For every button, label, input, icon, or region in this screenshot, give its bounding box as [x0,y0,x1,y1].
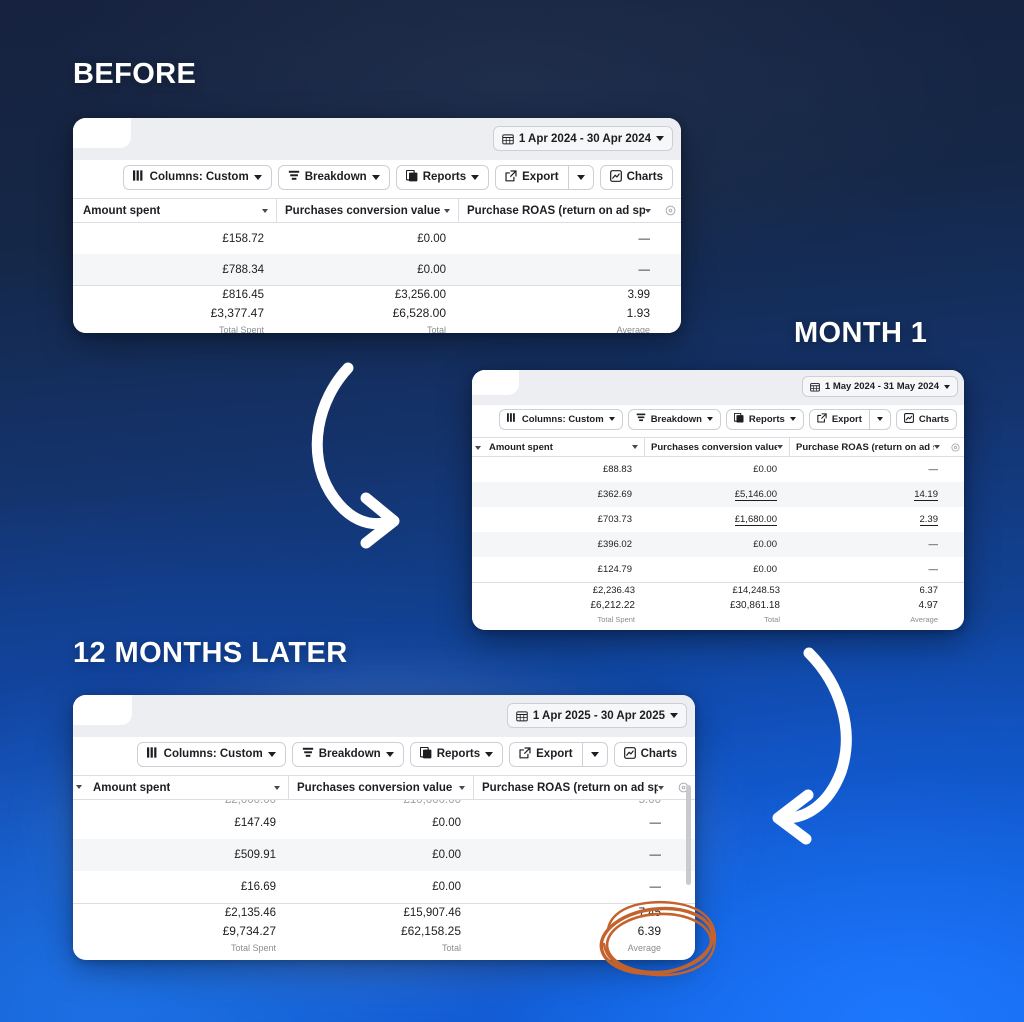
panel-chrome: 1 May 2024 - 31 May 2024 [472,370,964,405]
cell-roas[interactable]: 2.39 [790,514,964,525]
panel-toolbar: Columns: Custom Breakdown Reports Export… [73,160,681,198]
columns-button[interactable]: Columns: Custom [123,165,272,190]
column-header-purchases-conversion-value[interactable]: Purchases conversion value [645,438,790,456]
column-header-purchase-roas[interactable]: Purchase ROAS (return on ad spend) [474,776,672,799]
chevron-down-icon [790,417,796,421]
panel-chrome: 1 Apr 2024 - 30 Apr 2024 [73,118,681,160]
calendar-icon [516,710,528,722]
table-body: £158.72£0.00—£788.34£0.00— [73,223,681,285]
chevron-down-icon [262,209,268,213]
table-row-partial-clipped: £2,000.00 £10,000.00 5.00 [73,800,695,807]
cell-roas: — [474,881,694,893]
column-header-purchase-roas[interactable]: Purchase ROAS (return on ad spend) [459,199,659,222]
export-dropdown-button[interactable] [869,409,891,430]
charts-label: Charts [641,748,677,760]
chevron-down-icon [268,752,276,757]
chevron-down-icon [632,445,638,449]
panel-toolbar: Columns: Custom Breakdown Reports Export… [73,737,695,775]
charts-icon [610,170,622,185]
browser-tab[interactable] [73,118,131,148]
table-row[interactable]: £396.02£0.00— [472,532,964,557]
cell-amount-spent: £788.34 [73,264,277,276]
heading-before: BEFORE [73,58,196,91]
chevron-down-icon [76,785,82,789]
chevron-down-icon [274,786,280,790]
cell-roas[interactable]: 14.19 [790,489,964,500]
table-row[interactable]: £158.72£0.00— [73,223,681,254]
ads-table: Amount spent Purchases conversion value … [472,437,964,626]
cell-conversion-value: £0.00 [277,264,459,276]
column-header-amount-spent[interactable]: Amount spent [73,199,277,222]
breakdown-icon [636,413,646,425]
ads-table: Amount spent Purchases conversion value … [73,198,681,333]
chevron-down-icon [444,209,450,213]
table-body: £147.49£0.00—£509.91£0.00—£16.69£0.00— [73,807,695,903]
ads-manager-panel-before[interactable]: 1 Apr 2024 - 30 Apr 2024 Columns: Custom… [73,118,681,333]
date-range-picker[interactable]: 1 Apr 2025 - 30 Apr 2025 [507,703,687,728]
chevron-down-icon [459,786,465,790]
columns-button[interactable]: Columns: Custom [137,742,286,767]
cell-conversion-value: £0.00 [645,464,790,475]
chevron-down-icon [877,417,883,421]
columns-icon [133,170,145,184]
cell-amount-spent: £158.72 [73,233,277,245]
table-subtotal-row: £2,236.43 £14,248.53 6.37 [472,582,964,598]
export-icon [505,170,517,185]
cell-amount-spent: £147.49 [83,817,289,829]
chevron-down-icon [591,752,599,757]
reports-button[interactable]: Reports [410,742,503,767]
breakdown-label: Breakdown [319,748,381,760]
table-total-labels-row: Total Spent Total Average [73,940,695,955]
table-row[interactable]: £124.79£0.00— [472,557,964,582]
column-header-purchases-conversion-value[interactable]: Purchases conversion value [289,776,474,799]
columns-icon [147,747,159,761]
ads-table: Amount spent Purchases conversion value … [73,775,695,955]
reports-button[interactable]: Reports [726,409,804,430]
cell-roas: — [790,464,964,475]
browser-tab[interactable] [472,370,519,395]
chevron-down-icon [645,209,651,213]
gear-icon[interactable] [946,443,964,452]
cell-conversion-value: £0.00 [645,564,790,575]
table-header-row: Amount spent Purchases conversion value … [73,775,695,800]
cell-amount-spent: £396.02 [481,539,645,550]
reports-label: Reports [749,414,785,425]
cell-conversion-value: £0.00 [645,539,790,550]
cell-amount-spent: £362.69 [481,489,645,500]
chevron-down-icon [944,385,950,389]
cell-conversion-value[interactable]: £1,680.00 [645,514,790,525]
date-range-picker[interactable]: 1 Apr 2024 - 30 Apr 2024 [493,126,673,151]
charts-label: Charts [627,171,663,183]
table-row[interactable]: £88.83£0.00— [472,457,964,482]
date-range-label: 1 May 2024 - 31 May 2024 [825,381,939,392]
date-range-label: 1 Apr 2025 - 30 Apr 2025 [533,710,665,722]
breakdown-icon [288,170,300,184]
browser-tab[interactable] [73,695,132,725]
export-button[interactable]: Export [495,165,567,190]
table-subtotal-row: £2,135.46 £15,907.46 7.45 [73,903,695,922]
charts-icon [904,413,914,426]
chevron-down-icon [934,445,940,449]
export-dropdown-button[interactable] [582,742,608,767]
charts-button[interactable]: Charts [896,409,957,430]
charts-button[interactable]: Charts [614,742,687,767]
chevron-down-icon [475,446,481,450]
cell-amount-spent: £88.83 [481,464,645,475]
reports-label: Reports [437,748,480,760]
cell-conversion-value: £0.00 [289,881,474,893]
reports-icon [734,413,744,426]
table-subtotal-row: £816.45 £3,256.00 3.99 [73,285,681,304]
cell-roas: — [459,233,681,245]
table-body: £88.83£0.00—£362.69£5,146.0014.19£703.73… [472,457,964,582]
cell-amount-spent: £16.69 [83,881,289,893]
table-total-row: £9,734.27 £62,158.25 6.39 [73,922,695,940]
export-icon [817,413,827,426]
breakdown-button[interactable]: Breakdown [278,165,390,190]
breakdown-label: Breakdown [305,171,367,183]
column-header-purchase-roas[interactable]: Purchase ROAS (return on ad spend) [790,438,946,456]
columns-button[interactable]: Columns: Custom [499,409,623,430]
chevron-down-icon [670,713,678,718]
columns-label: Columns: Custom [150,171,249,183]
charts-label: Charts [919,414,949,425]
table-row[interactable]: £788.34£0.00— [73,254,681,285]
calendar-icon [502,133,514,145]
chevron-down-icon [609,417,615,421]
chevron-down-icon [577,175,585,180]
reports-label: Reports [423,171,466,183]
table-row[interactable]: £509.91£0.00— [73,839,695,871]
panel-chrome: 1 Apr 2025 - 30 Apr 2025 [73,695,695,737]
cell-amount-spent: £124.79 [481,564,645,575]
chevron-down-icon [372,175,380,180]
breakdown-label: Breakdown [651,414,702,425]
table-row[interactable]: £16.69£0.00— [73,871,695,903]
breakdown-button[interactable]: Breakdown [292,742,404,767]
ads-manager-panel-12-months-later[interactable]: 1 Apr 2025 - 30 Apr 2025 Columns: Custom… [73,695,695,960]
table-total-labels-row: Total Spent Total Average [472,613,964,626]
calendar-icon [810,382,820,392]
reports-icon [420,747,432,762]
table-total-row: £3,377.47 £6,528.00 1.93 [73,304,681,322]
columns-label: Columns: Custom [522,414,604,425]
vertical-scrollbar[interactable] [686,785,691,885]
date-range-label: 1 Apr 2024 - 30 Apr 2024 [519,133,651,145]
charts-icon [624,747,636,762]
cell-roas: — [790,564,964,575]
cell-amount-spent: £509.91 [83,849,289,861]
export-button[interactable]: Export [509,742,581,767]
cell-roas: — [474,849,694,861]
chevron-down-icon [254,175,262,180]
chevron-down-icon [777,445,783,449]
table-row[interactable]: £362.69£5,146.0014.19 [472,482,964,507]
cell-roas: — [474,817,694,829]
cell-roas: — [790,539,964,550]
gear-icon[interactable] [659,205,681,216]
date-range-picker[interactable]: 1 May 2024 - 31 May 2024 [802,376,958,397]
cell-conversion-value: £0.00 [277,233,459,245]
reports-icon [406,170,418,185]
cell-conversion-value[interactable]: £5,146.00 [645,489,790,500]
breakdown-button[interactable]: Breakdown [628,409,721,430]
table-total-labels-row: Total Spent Total Average [73,322,681,333]
heading-month-1: MONTH 1 [794,317,927,350]
table-header-row: Amount spent Purchases conversion value … [73,198,681,223]
cell-amount-spent: £703.73 [481,514,645,525]
columns-icon [507,413,517,425]
cell-conversion-value: £0.00 [289,849,474,861]
export-dropdown-button[interactable] [568,165,594,190]
chevron-down-icon [707,417,713,421]
chevron-down-icon [386,752,394,757]
table-header-row: Amount spent Purchases conversion value … [472,437,964,457]
export-label: Export [832,414,862,425]
export-label: Export [536,748,572,760]
cell-roas: — [459,264,681,276]
chevron-down-icon [658,786,664,790]
reports-button[interactable]: Reports [396,165,489,190]
panel-toolbar: Columns: Custom Breakdown Reports Export… [472,405,964,437]
charts-button[interactable]: Charts [600,165,673,190]
export-icon [519,747,531,762]
breakdown-icon [302,747,314,761]
table-row[interactable]: £703.73£1,680.002.39 [472,507,964,532]
export-label: Export [522,171,558,183]
export-button[interactable]: Export [809,409,869,430]
chevron-down-icon [471,175,479,180]
cell-conversion-value: £0.00 [289,817,474,829]
chevron-down-icon [485,752,493,757]
table-total-row: £6,212.22 £30,861.18 4.97 [472,598,964,613]
ads-manager-panel-month-1[interactable]: 1 May 2024 - 31 May 2024 Columns: Custom… [472,370,964,630]
table-row[interactable]: £147.49£0.00— [73,807,695,839]
columns-label: Columns: Custom [164,748,263,760]
column-header-purchases-conversion-value[interactable]: Purchases conversion value [277,199,459,222]
heading-12-months-later: 12 MONTHS LATER [73,637,348,670]
column-header-amount-spent[interactable]: Amount spent [481,438,645,456]
chevron-down-icon [656,136,664,141]
column-header-amount-spent[interactable]: Amount spent [83,776,289,799]
